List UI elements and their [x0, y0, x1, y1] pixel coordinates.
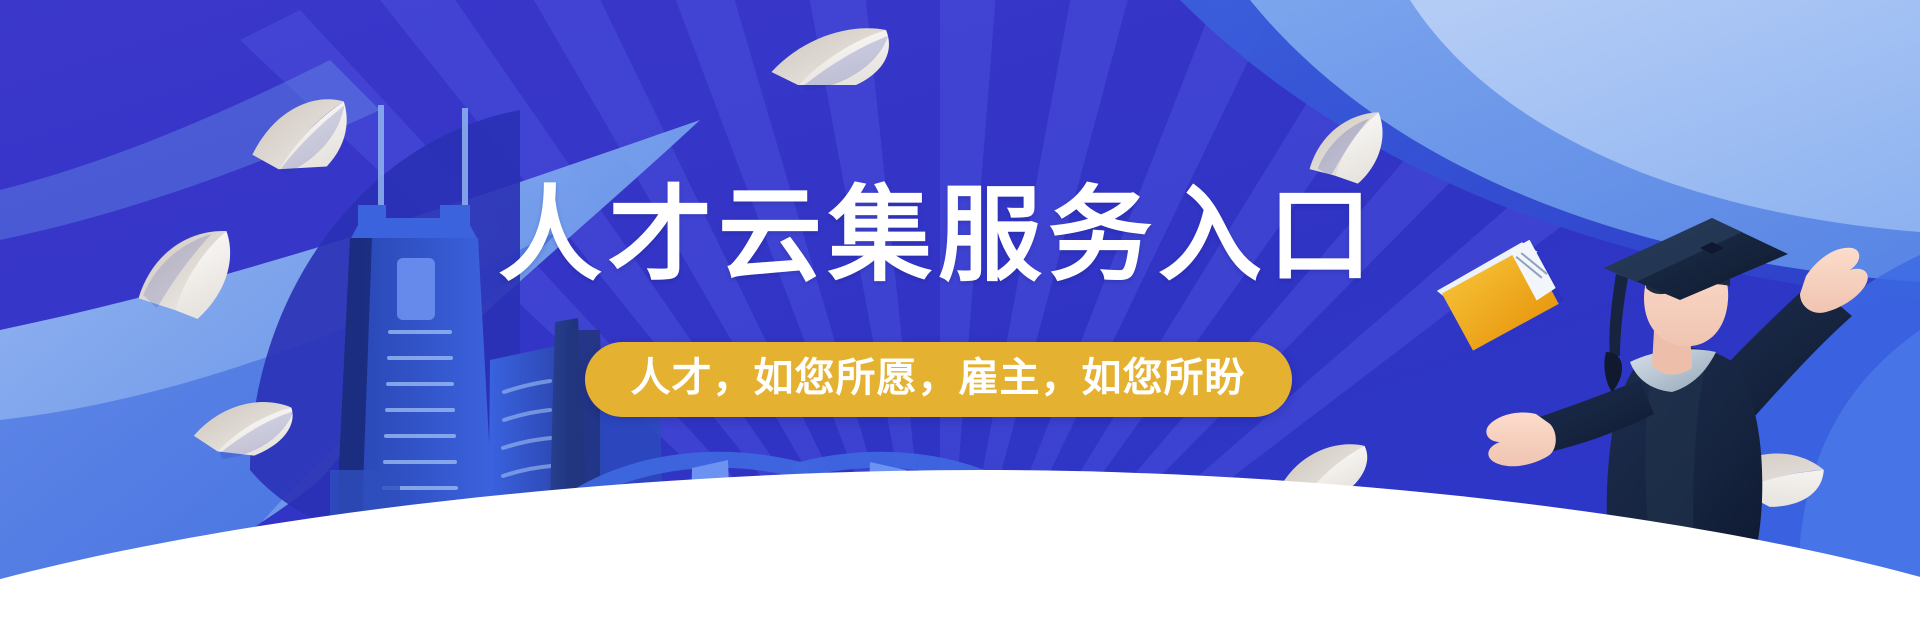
tower-window-panel: [397, 258, 435, 320]
banner-illustration: [0, 0, 1920, 630]
hero-banner: 人才云集服务入口 人才，如您所愿，雇主，如您所盼: [0, 0, 1920, 630]
bottom-white-base: [0, 600, 1920, 630]
